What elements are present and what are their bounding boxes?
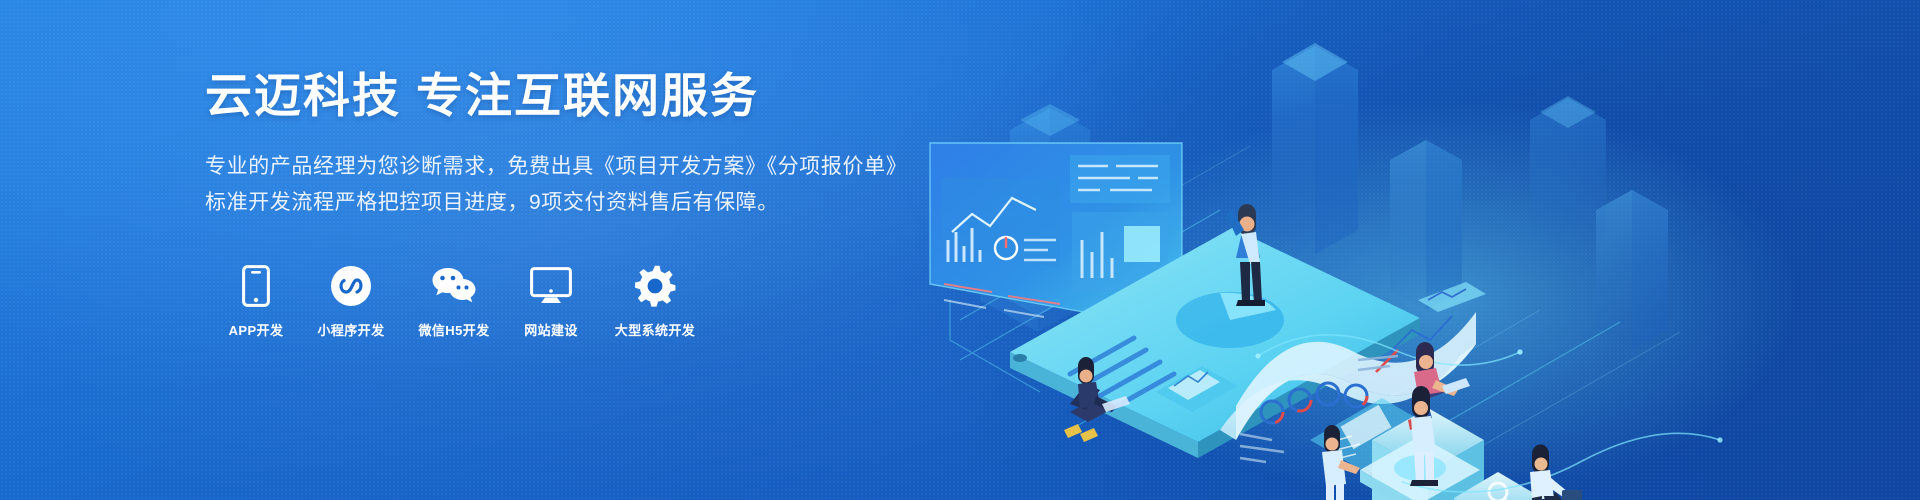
page-title: 云迈科技 专注互联网服务 <box>205 68 925 124</box>
hero-banner: 云迈科技 专注互联网服务 专业的产品经理为您诊断需求，免费出具《项目开发方案》《… <box>0 0 1920 500</box>
banner-content: 云迈科技 专注互联网服务 专业的产品经理为您诊断需求，免费出具《项目开发方案》《… <box>205 68 925 339</box>
service-label: APP开发 <box>221 320 291 339</box>
monitor-icon <box>515 264 587 308</box>
mobile-phone-icon <box>221 264 291 308</box>
service-label: 网站建设 <box>515 320 587 339</box>
subtitle-line-2: 标准开发流程严格把控项目进度，9项交付资料售后有保障。 <box>205 186 925 220</box>
service-label: 微信H5开发 <box>411 320 497 339</box>
service-list: APP开发 小程序开发 <box>221 264 925 339</box>
service-item-website[interactable]: 网站建设 <box>515 264 587 339</box>
subtitle-line-1: 专业的产品经理为您诊断需求，免费出具《项目开发方案》《分项报价单》 <box>205 150 925 184</box>
banner-subtitle: 专业的产品经理为您诊断需求，免费出具《项目开发方案》《分项报价单》 标准开发流程… <box>205 150 925 220</box>
gear-icon <box>605 264 705 308</box>
mini-program-icon <box>309 264 393 308</box>
service-item-large-system[interactable]: 大型系统开发 <box>605 264 705 339</box>
wechat-icon <box>411 264 497 308</box>
service-label: 大型系统开发 <box>605 320 705 339</box>
service-label: 小程序开发 <box>309 320 393 339</box>
service-item-app[interactable]: APP开发 <box>221 264 291 339</box>
service-item-miniprogram[interactable]: 小程序开发 <box>309 264 393 339</box>
service-item-wechat-h5[interactable]: 微信H5开发 <box>411 264 497 339</box>
